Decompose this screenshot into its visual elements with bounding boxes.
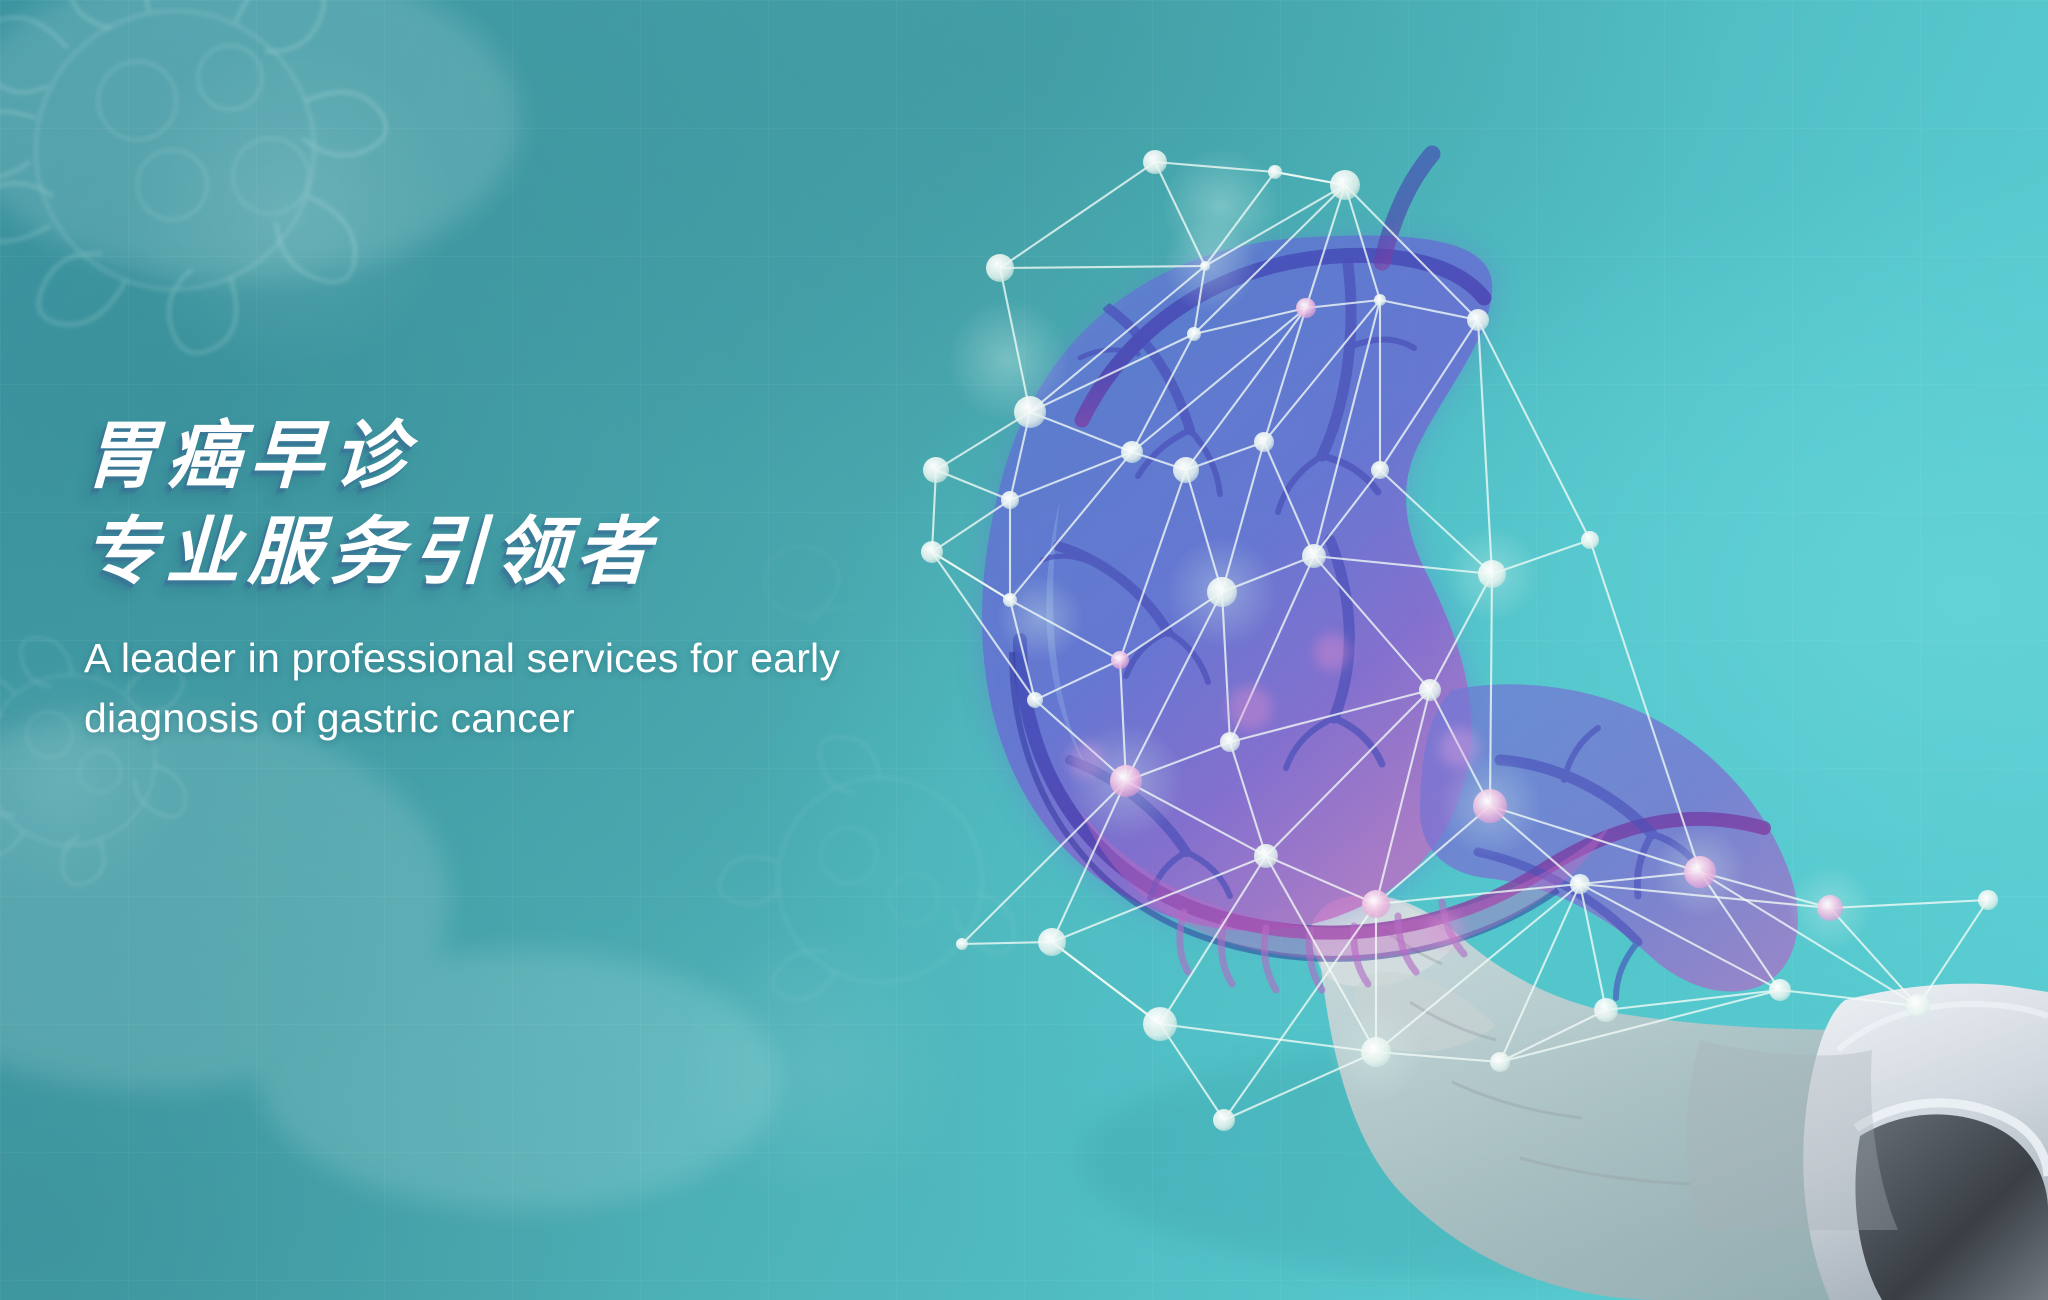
subhead-en-line2: diagnosis of gastric cancer	[84, 688, 984, 748]
headline-cn-line2: 专业服务引领者	[82, 504, 985, 600]
banner-hero: 胃癌早诊 专业服务引领者 A leader in professional se…	[0, 0, 2048, 1300]
hero-copy: 胃癌早诊 专业服务引领者 A leader in professional se…	[84, 408, 984, 748]
headline-cn-line1: 胃癌早诊	[82, 408, 985, 504]
subhead-en-line1: A leader in professional services for ea…	[84, 628, 984, 688]
subhead-en: A leader in professional services for ea…	[84, 628, 984, 748]
